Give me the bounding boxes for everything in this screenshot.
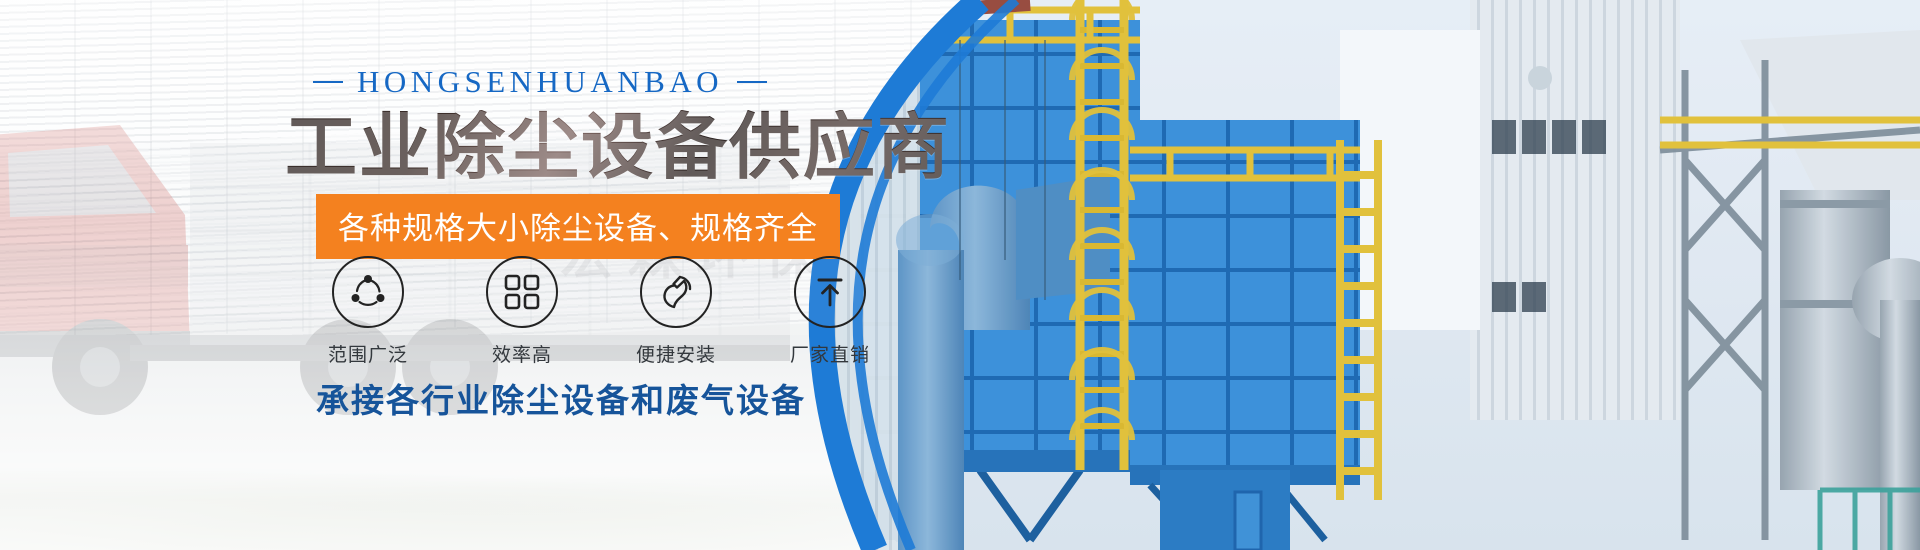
banner-content: HONGSENHUANBAO 工业除尘设备供应商 各种规格大小除尘设备、规格齐全: [0, 0, 1000, 550]
feature-item-range[interactable]: 范围广泛: [316, 256, 420, 367]
subtitle-orange-bar: 各种规格大小除尘设备、规格齐全: [316, 194, 840, 259]
feature-list: 范围广泛 效率高: [316, 256, 882, 367]
feature-item-factory-direct[interactable]: 厂家直销: [778, 256, 882, 367]
arrow-up-bar-icon: [811, 273, 849, 311]
feature-label: 便捷安装: [624, 340, 728, 367]
feature-item-installation[interactable]: 便捷安装: [624, 256, 728, 367]
brand-pinyin-text: HONGSENHUANBAO: [357, 64, 723, 100]
promo-banner: 宏森环保: [0, 0, 1920, 550]
subtitle-text: 各种规格大小除尘设备、规格齐全: [338, 211, 818, 247]
dash-right-icon: [737, 81, 767, 83]
feature-icon-circle: [794, 256, 866, 328]
grid-squares-icon: [503, 273, 541, 311]
brand-pinyin: HONGSENHUANBAO: [330, 64, 750, 100]
share-nodes-icon: [348, 272, 388, 312]
tagline: 承接各行业除尘设备和废气设备: [316, 374, 806, 422]
feature-label: 范围广泛: [316, 340, 420, 367]
feature-icon-circle: [332, 256, 404, 328]
feature-icon-circle: [486, 256, 558, 328]
feature-label: 厂家直销: [778, 340, 882, 367]
feature-item-efficiency[interactable]: 效率高: [470, 256, 574, 367]
wrench-icon: [656, 272, 696, 312]
dash-left-icon: [313, 81, 343, 83]
page-title: 工业除尘设备供应商: [285, 110, 951, 186]
feature-label: 效率高: [470, 340, 574, 367]
feature-icon-circle: [640, 256, 712, 328]
